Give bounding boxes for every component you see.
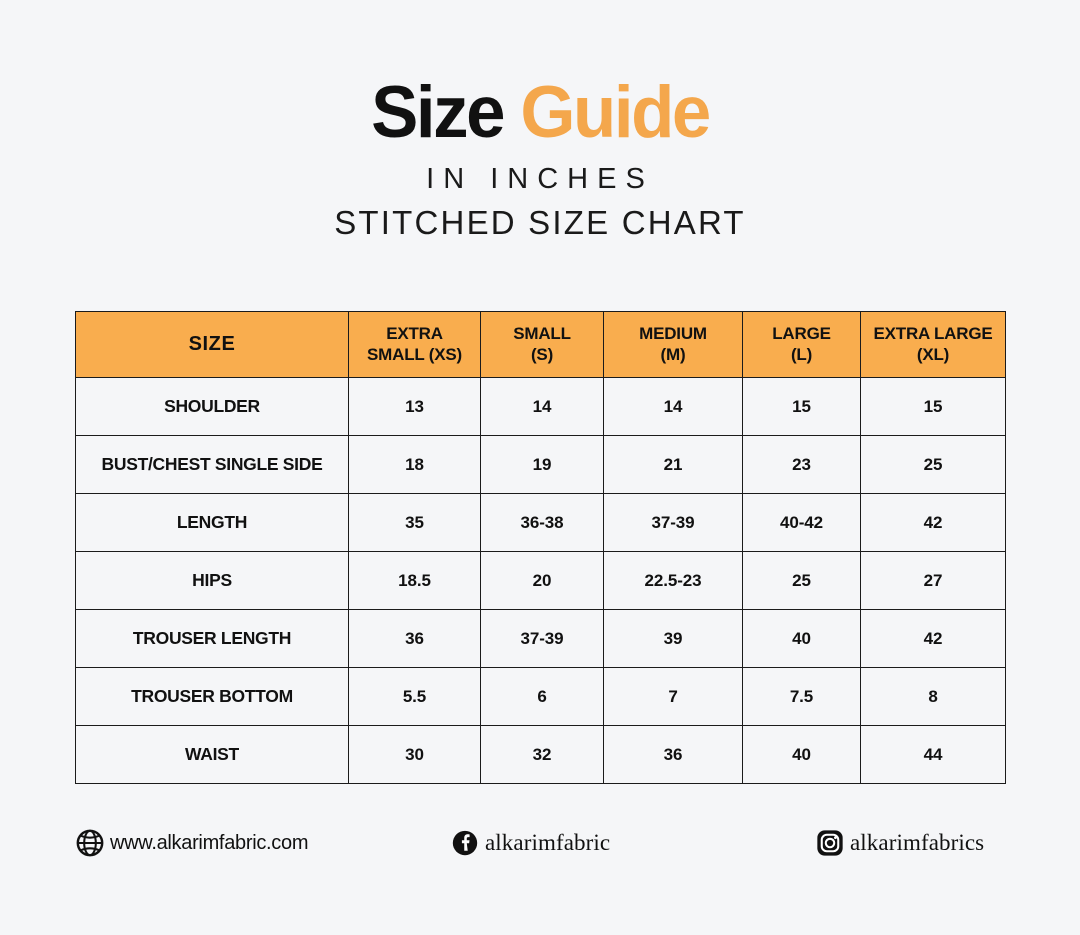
row-label: TROUSER LENGTH <box>76 610 349 668</box>
cell-xs: 18.5 <box>349 552 481 610</box>
row-label: LENGTH <box>76 494 349 552</box>
cell-xs: 13 <box>349 378 481 436</box>
cell-xl: 42 <box>861 494 1006 552</box>
cell-m: 21 <box>604 436 743 494</box>
facebook-icon <box>450 828 480 858</box>
cell-s: 14 <box>481 378 604 436</box>
column-header-xs-line1: EXTRA <box>386 324 443 343</box>
cell-s: 36-38 <box>481 494 604 552</box>
footer-contact-bar: www.alkarimfabric.com alkarimfabric alka… <box>75 818 1005 868</box>
size-chart-container: SIZE EXTRA SMALL (XS) SMALL (S) MEDIUM (… <box>75 311 1005 784</box>
cell-m: 7 <box>604 668 743 726</box>
column-header-s-line2: (S) <box>531 345 553 364</box>
page-header: Size Guide IN INCHES STITCHED SIZE CHART <box>0 0 1080 239</box>
footer-instagram[interactable]: alkarimfabrics <box>815 828 1005 858</box>
row-label: HIPS <box>76 552 349 610</box>
table-row: HIPS 18.5 20 22.5-23 25 27 <box>76 552 1006 610</box>
cell-l: 15 <box>743 378 861 436</box>
page-title-word-size: Size <box>371 72 503 153</box>
column-header-xl: EXTRA LARGE (XL) <box>861 312 1006 378</box>
cell-s: 19 <box>481 436 604 494</box>
row-label: WAIST <box>76 726 349 784</box>
cell-l: 40 <box>743 610 861 668</box>
cell-xl: 27 <box>861 552 1006 610</box>
cell-l: 25 <box>743 552 861 610</box>
table-row: LENGTH 35 36-38 37-39 40-42 42 <box>76 494 1006 552</box>
cell-xs: 35 <box>349 494 481 552</box>
cell-xs: 18 <box>349 436 481 494</box>
subtitle-units: IN INCHES <box>0 165 1080 194</box>
size-chart-table: SIZE EXTRA SMALL (XS) SMALL (S) MEDIUM (… <box>75 311 1006 784</box>
column-header-xs-line2: SMALL (XS) <box>367 345 462 364</box>
footer-facebook-label: alkarimfabric <box>485 830 610 856</box>
column-header-m: MEDIUM (M) <box>604 312 743 378</box>
column-header-l: LARGE (L) <box>743 312 861 378</box>
table-header-row: SIZE EXTRA SMALL (XS) SMALL (S) MEDIUM (… <box>76 312 1006 378</box>
cell-l: 40-42 <box>743 494 861 552</box>
cell-xs: 30 <box>349 726 481 784</box>
footer-website[interactable]: www.alkarimfabric.com <box>75 828 450 858</box>
subtitle-chart-type: STITCHED SIZE CHART <box>0 206 1080 239</box>
cell-xl: 8 <box>861 668 1006 726</box>
cell-s: 6 <box>481 668 604 726</box>
cell-m: 37-39 <box>604 494 743 552</box>
row-label: SHOULDER <box>76 378 349 436</box>
cell-xs: 5.5 <box>349 668 481 726</box>
footer-website-label: www.alkarimfabric.com <box>110 832 308 855</box>
footer-facebook[interactable]: alkarimfabric <box>450 828 815 858</box>
table-row: TROUSER LENGTH 36 37-39 39 40 42 <box>76 610 1006 668</box>
table-row: TROUSER BOTTOM 5.5 6 7 7.5 8 <box>76 668 1006 726</box>
column-header-s-line1: SMALL <box>513 324 571 343</box>
table-row: WAIST 30 32 36 40 44 <box>76 726 1006 784</box>
globe-icon <box>75 828 105 858</box>
page-title-word-guide: Guide <box>520 72 709 153</box>
cell-s: 37-39 <box>481 610 604 668</box>
column-header-m-line2: (M) <box>661 345 686 364</box>
cell-xs: 36 <box>349 610 481 668</box>
cell-l: 7.5 <box>743 668 861 726</box>
row-label: TROUSER BOTTOM <box>76 668 349 726</box>
column-header-xs: EXTRA SMALL (XS) <box>349 312 481 378</box>
column-header-xl-line1: EXTRA LARGE <box>873 324 992 343</box>
table-row: BUST/CHEST SINGLE SIDE 18 19 21 23 25 <box>76 436 1006 494</box>
column-header-xl-line2: (XL) <box>917 345 949 364</box>
cell-xl: 42 <box>861 610 1006 668</box>
row-label: BUST/CHEST SINGLE SIDE <box>76 436 349 494</box>
table-body: SHOULDER 13 14 14 15 15 BUST/CHEST SINGL… <box>76 378 1006 784</box>
column-header-size-label: SIZE <box>189 333 236 355</box>
cell-s: 32 <box>481 726 604 784</box>
column-header-size: SIZE <box>76 312 349 378</box>
cell-m: 39 <box>604 610 743 668</box>
cell-l: 40 <box>743 726 861 784</box>
column-header-m-line1: MEDIUM <box>639 324 707 343</box>
instagram-icon <box>815 828 845 858</box>
page-title: Size Guide <box>16 76 1064 149</box>
cell-m: 22.5-23 <box>604 552 743 610</box>
cell-xl: 25 <box>861 436 1006 494</box>
cell-m: 14 <box>604 378 743 436</box>
table-row: SHOULDER 13 14 14 15 15 <box>76 378 1006 436</box>
column-header-l-line1: LARGE <box>772 324 831 343</box>
table-header: SIZE EXTRA SMALL (XS) SMALL (S) MEDIUM (… <box>76 312 1006 378</box>
footer-instagram-label: alkarimfabrics <box>850 830 984 856</box>
cell-m: 36 <box>604 726 743 784</box>
cell-xl: 15 <box>861 378 1006 436</box>
column-header-s: SMALL (S) <box>481 312 604 378</box>
cell-s: 20 <box>481 552 604 610</box>
column-header-l-line2: (L) <box>791 345 812 364</box>
cell-xl: 44 <box>861 726 1006 784</box>
cell-l: 23 <box>743 436 861 494</box>
